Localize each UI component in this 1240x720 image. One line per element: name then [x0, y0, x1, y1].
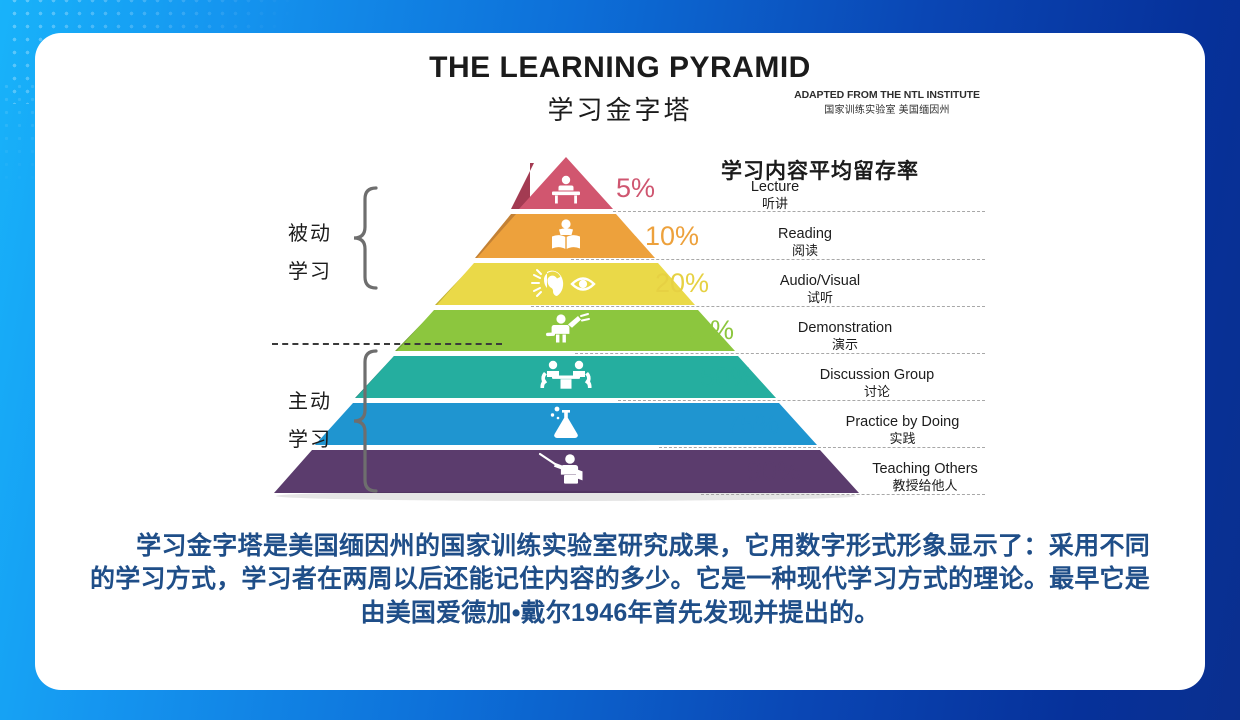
group-braces — [354, 188, 376, 491]
row-label-discussion-zh: 讨论 — [777, 384, 977, 400]
passive-active-divider — [272, 343, 502, 345]
row-label-audiovisual: Audio/Visual 试听 — [725, 272, 915, 306]
content-card: THE LEARNING PYRAMID 学习金字塔 ADAPTED FROM … — [35, 33, 1205, 690]
row-percent-lecture: 5% — [616, 173, 655, 204]
caption-text: 学习金字塔是美国缅因州的国家训练实验室研究成果，它用数字形式形象显示了：采用不同… — [90, 530, 1150, 630]
row-percent-audiovisual: 20% — [655, 268, 709, 299]
row-percent-discussion: 50% — [700, 362, 754, 393]
row-label-reading-en: Reading — [715, 225, 895, 243]
row-percent-practice: 75% — [725, 409, 779, 440]
row-label-lecture-en: Lecture — [685, 178, 865, 196]
row-percent-teaching: 90% — [747, 456, 801, 487]
caption-body: 学习金字塔是美国缅因州的国家训练实验室研究成果，它用数字形式形象显示了：采用不同… — [90, 532, 1150, 627]
row-label-discussion-en: Discussion Group — [777, 366, 977, 384]
row-label-practice-en: Practice by Doing — [805, 413, 1000, 431]
row-label-demonstration-zh: 演示 — [750, 337, 940, 353]
row-label-lecture-zh: 听讲 — [685, 196, 865, 212]
passive-label-line1: 被动 — [267, 215, 353, 253]
active-group-label: 主动 学习 — [267, 383, 353, 459]
passive-group-brace — [354, 188, 376, 288]
row-label-demonstration: Demonstration 演示 — [750, 319, 940, 353]
row-label-demonstration-en: Demonstration — [750, 319, 940, 337]
row-label-reading-zh: 阅读 — [715, 243, 895, 259]
row-label-reading: Reading 阅读 — [715, 225, 895, 259]
row-label-practice: Practice by Doing 实践 — [805, 413, 1000, 447]
row-label-teaching: Teaching Others 教授给他人 — [825, 460, 1025, 494]
row-percent-demonstration: 30% — [680, 315, 734, 346]
row-label-lecture: Lecture 听讲 — [685, 178, 865, 212]
passive-label-line2: 学习 — [267, 253, 353, 291]
row-percent-reading: 10% — [645, 221, 699, 252]
passive-group-label: 被动 学习 — [267, 215, 353, 291]
row-label-practice-zh: 实践 — [805, 431, 1000, 447]
row-label-teaching-en: Teaching Others — [825, 460, 1025, 478]
active-label-line1: 主动 — [267, 383, 353, 421]
row-label-audiovisual-en: Audio/Visual — [725, 272, 915, 290]
row-label-discussion: Discussion Group 讨论 — [777, 366, 977, 400]
row-label-teaching-zh: 教授给他人 — [825, 478, 1025, 494]
active-label-line2: 学习 — [267, 421, 353, 459]
row-label-audiovisual-zh: 试听 — [725, 290, 915, 306]
